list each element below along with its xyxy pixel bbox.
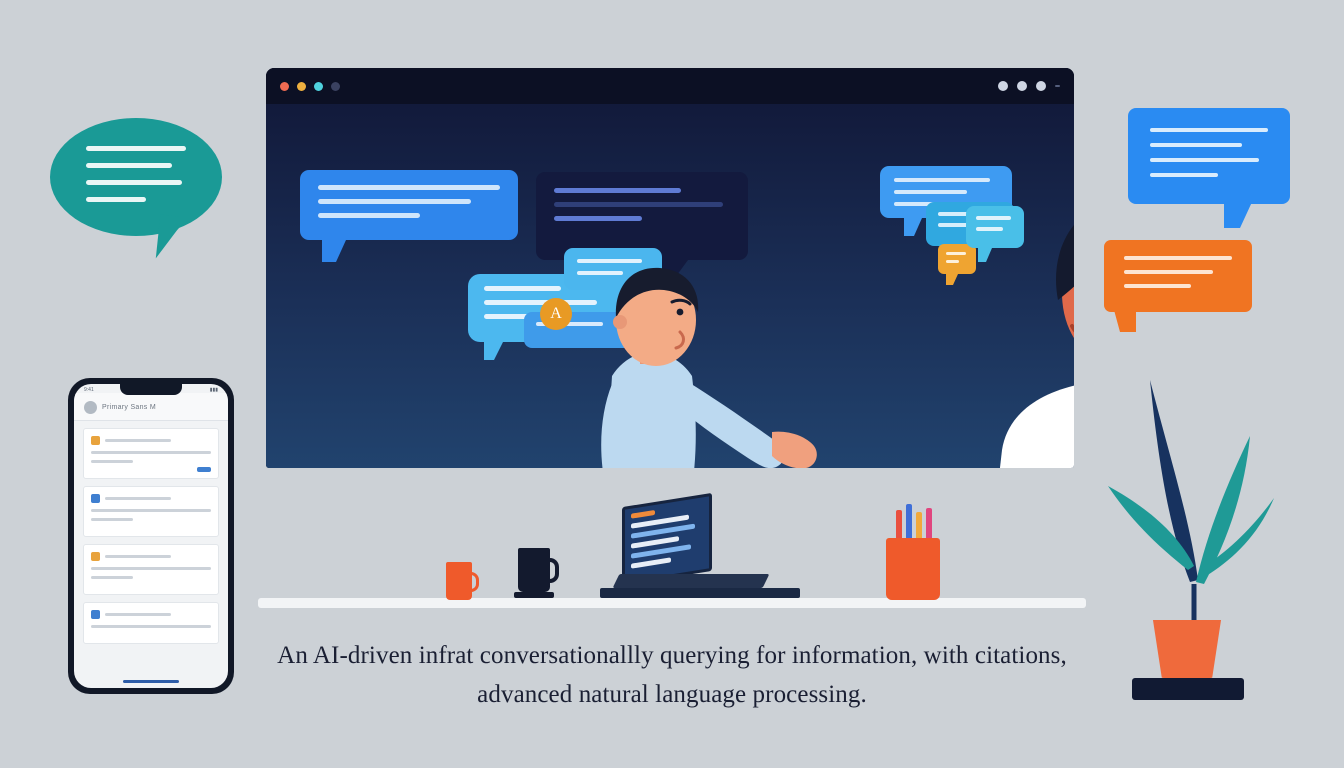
system-message-dark bbox=[536, 172, 748, 260]
message-tail bbox=[322, 240, 346, 262]
caption: An AI-driven infrat conversationallly qu… bbox=[258, 636, 1086, 714]
list-item[interactable] bbox=[83, 428, 219, 479]
minimize-icon[interactable] bbox=[297, 82, 306, 91]
potted-plant bbox=[1098, 370, 1288, 700]
control-circle-icon[interactable] bbox=[998, 81, 1008, 91]
laptop-keyboard bbox=[613, 574, 770, 588]
laptop-base bbox=[600, 588, 800, 598]
teal-speech-bubble bbox=[50, 118, 222, 236]
list-item-icon bbox=[91, 494, 100, 503]
control-circle-icon[interactable] bbox=[1036, 81, 1046, 91]
plant-leaves bbox=[1098, 370, 1288, 660]
chat-browser-window[interactable]: A bbox=[266, 68, 1074, 468]
blue-bubble-tail bbox=[1224, 202, 1252, 228]
message-tail bbox=[946, 274, 958, 285]
mug-handle bbox=[466, 572, 479, 592]
assistant-message-cyan-right bbox=[966, 206, 1024, 248]
person-standing-left bbox=[588, 314, 818, 468]
phone-mockup[interactable]: 9:41 ▮▮▮ Primary Sans M bbox=[68, 378, 234, 694]
phone-header: Primary Sans M bbox=[74, 393, 228, 421]
phone-home-indicator bbox=[123, 680, 179, 683]
extra-dot-icon bbox=[331, 82, 340, 91]
caption-line-2: advanced natural language processing. bbox=[258, 675, 1086, 714]
list-item-icon bbox=[91, 436, 100, 445]
pen-cup-body bbox=[886, 538, 940, 600]
list-item-icon bbox=[91, 610, 100, 619]
maximize-icon[interactable] bbox=[314, 82, 323, 91]
plant-pot bbox=[1150, 620, 1224, 678]
blue-speech-bubble bbox=[1128, 108, 1290, 204]
orange-speech-bubble bbox=[1104, 240, 1252, 312]
message-tail bbox=[484, 340, 504, 360]
minimize-dash-icon[interactable] bbox=[1055, 85, 1060, 87]
chat-canvas: A bbox=[266, 104, 1074, 468]
phone-screen[interactable]: 9:41 ▮▮▮ Primary Sans M bbox=[74, 384, 228, 688]
laptop-screen bbox=[622, 493, 712, 585]
status-badge bbox=[197, 467, 211, 472]
user-message-blue-left bbox=[300, 170, 518, 240]
message-text-lines bbox=[536, 172, 748, 246]
teal-bubble-tail bbox=[156, 215, 188, 262]
teal-bubble-text-lines bbox=[86, 146, 186, 214]
phone-status-icons: ▮▮▮ bbox=[210, 387, 218, 393]
list-item-icon bbox=[91, 552, 100, 561]
control-circle-icon[interactable] bbox=[1017, 81, 1027, 91]
orange-bubble-tail bbox=[1114, 310, 1136, 332]
close-icon[interactable] bbox=[280, 82, 289, 91]
blue-bubble-text-lines bbox=[1150, 128, 1268, 188]
mug-handle bbox=[544, 558, 559, 583]
phone-header-title: Primary Sans M bbox=[102, 404, 156, 411]
avatar bbox=[84, 401, 97, 414]
mug-base bbox=[514, 592, 554, 598]
message-text-lines bbox=[966, 206, 1024, 248]
window-traffic-lights[interactable] bbox=[280, 82, 340, 91]
pen-cup bbox=[886, 502, 948, 600]
phone-status-time: 9:41 bbox=[84, 387, 94, 393]
list-item[interactable] bbox=[83, 486, 219, 537]
orange-mug bbox=[446, 562, 472, 600]
list-item[interactable] bbox=[83, 544, 219, 595]
browser-titlebar[interactable] bbox=[266, 68, 1074, 104]
plant-tray bbox=[1132, 678, 1244, 700]
caption-line-1: An AI-driven infrat conversationallly qu… bbox=[258, 636, 1086, 675]
illustration-canvas: 9:41 ▮▮▮ Primary Sans M bbox=[0, 0, 1344, 768]
ai-avatar-badge: A bbox=[540, 298, 572, 330]
message-text-lines bbox=[300, 170, 518, 242]
message-tail bbox=[904, 218, 922, 236]
window-right-controls[interactable] bbox=[998, 81, 1060, 91]
person-seated-right bbox=[966, 244, 1074, 468]
orange-bubble-text-lines bbox=[1124, 256, 1232, 298]
dark-mug bbox=[518, 548, 550, 592]
phone-notch bbox=[120, 384, 182, 395]
laptop bbox=[600, 500, 800, 600]
list-item[interactable] bbox=[83, 602, 219, 644]
